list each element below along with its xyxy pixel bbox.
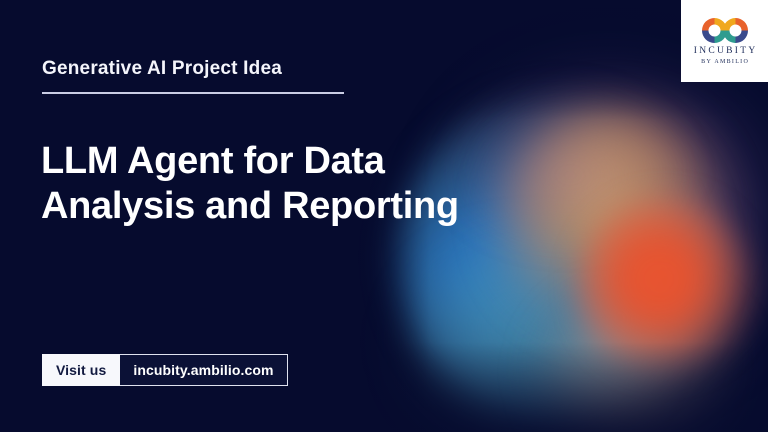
eyebrow-divider <box>42 92 344 94</box>
slide-content: Generative AI Project Idea LLM Agent for… <box>0 0 768 432</box>
visit-cta[interactable]: Visit us incubity.ambilio.com <box>42 354 288 386</box>
headline-line-1: LLM Agent for Data <box>41 139 511 183</box>
page-title: LLM Agent for Data Analysis and Reportin… <box>41 139 511 227</box>
incubity-infinity-icon <box>702 18 748 43</box>
slide-canvas: Generative AI Project Idea LLM Agent for… <box>0 0 768 432</box>
headline-line-2: Analysis and Reporting <box>41 184 511 228</box>
brand-tagline: BY AMBILIO <box>700 59 749 65</box>
visit-url-link[interactable]: incubity.ambilio.com <box>120 354 287 386</box>
brand-name: INCUBITY <box>691 46 757 56</box>
visit-us-label: Visit us <box>42 354 120 386</box>
eyebrow-label: Generative AI Project Idea <box>42 58 282 80</box>
brand-logo-card[interactable]: INCUBITY BY AMBILIO <box>681 0 768 82</box>
